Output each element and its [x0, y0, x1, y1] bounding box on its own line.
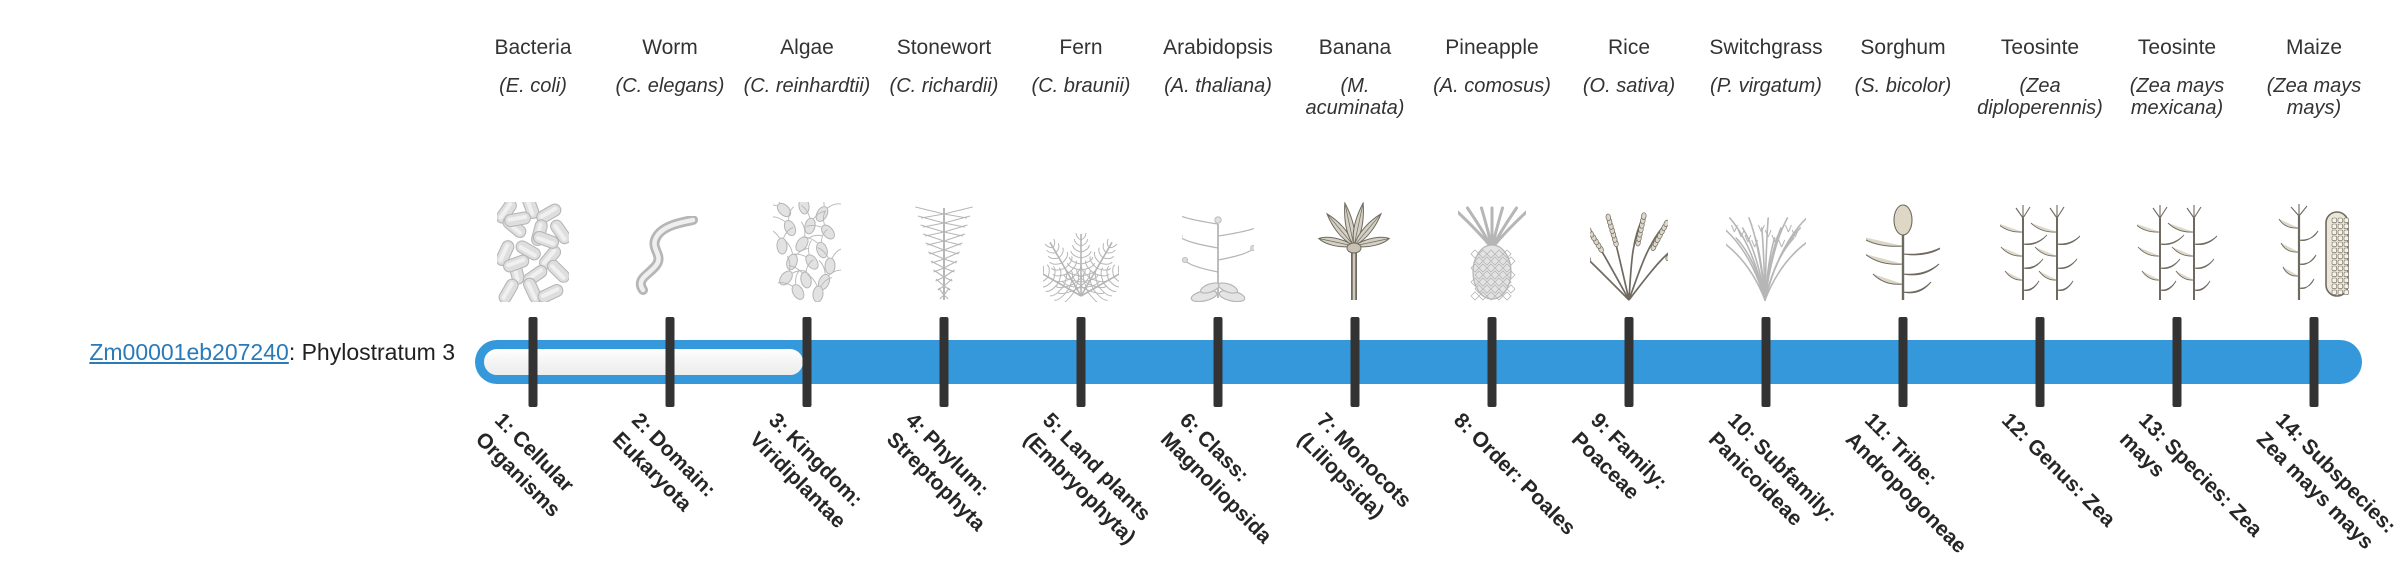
species-common-name: Fern: [1015, 36, 1147, 66]
phylostratum-timeline-figure: Zm00001eb207240: Phylostratum 3 Bacteria…: [0, 0, 2400, 580]
species-column: Fern (C. braunii): [1015, 0, 1147, 310]
rank-label: 12: Genus: Zea: [1995, 408, 2133, 546]
species-scientific-name: (S. bicolor): [1837, 75, 1969, 131]
phylostratum-tick: [1351, 317, 1360, 407]
species-column: Worm (C. elegans): [604, 0, 736, 310]
rank-label: 8: Order: Poales: [1447, 408, 1585, 546]
banana-tree-illustration: [1289, 198, 1421, 302]
pineapple-illustration: [1426, 198, 1558, 302]
species-column: Switchgrass (P. virgatum): [1700, 0, 1832, 310]
species-scientific-name: (Zea mays mays): [2248, 75, 2380, 131]
stonewort-illustration: [878, 198, 1010, 302]
species-common-name: Bacteria: [467, 36, 599, 66]
rank-label: 14: Subspecies: Zea mays mays: [2250, 408, 2400, 565]
arabidopsis-plant-illustration: [1152, 198, 1284, 302]
gene-label-separator: :: [289, 339, 302, 365]
phylostratum-tick: [803, 317, 812, 407]
species-common-name: Maize: [2248, 36, 2380, 66]
teosinte-diploperennis-illustration: [1974, 198, 2106, 302]
phylostratum-tick: [2036, 317, 2045, 407]
rank-label: 2: Domain: Eukaryota: [606, 408, 763, 565]
species-scientific-name: (A. comosus): [1426, 75, 1558, 131]
phylostratum-tick: [666, 317, 675, 407]
species-column: Maize (Zea mays mays): [2248, 0, 2380, 310]
species-column: Teosinte (Zea mays mexicana): [2111, 0, 2243, 310]
chlamydomonas-algae-illustration: [741, 198, 873, 302]
species-common-name: Switchgrass: [1700, 36, 1832, 66]
species-common-name: Pineapple: [1426, 36, 1558, 66]
rank-label: 13: Species: Zea mays: [2113, 408, 2270, 565]
rank-label: 4: Phylum: Streptophyta: [880, 408, 1037, 565]
species-scientific-name: (C. reinhardtii): [741, 75, 873, 131]
phylostratum-tick: [1214, 317, 1223, 407]
species-column: Bacteria (E. coli): [467, 0, 599, 310]
species-scientific-name: (C. richardii): [878, 75, 1010, 131]
phylostratum-tick: [2173, 317, 2182, 407]
maize-plant-and-cob-illustration: [2248, 198, 2380, 302]
species-scientific-name: (C. braunii): [1015, 75, 1147, 131]
species-common-name: Stonewort: [878, 36, 1010, 66]
sorghum-plant-illustration: [1837, 198, 1969, 302]
species-scientific-name: (Zea mays mexicana): [2111, 75, 2243, 131]
rice-plant-illustration: [1563, 198, 1695, 302]
rank-label: 7: Monocots (Liliopsida): [1291, 408, 1448, 565]
species-common-name: Sorghum: [1837, 36, 1969, 66]
rank-label: 9: Family: Poaceae: [1565, 408, 1722, 565]
gene-id-link[interactable]: Zm00001eb207240: [89, 339, 289, 365]
species-column: Stonewort (C. richardii): [878, 0, 1010, 310]
teosinte-mexicana-illustration: [2111, 198, 2243, 302]
fern-frond-illustration: [1015, 198, 1147, 302]
species-column: Pineapple (A. comosus): [1426, 0, 1558, 310]
species-column: Teosinte (Zea diploperennis): [1974, 0, 2106, 310]
bacteria-rods-illustration: [467, 198, 599, 302]
species-common-name: Algae: [741, 36, 873, 66]
rank-label: 6: Class: Magnoliopsida: [1154, 408, 1311, 565]
rank-labels: 1: Cellular Organisms2: Domain: Eukaryot…: [455, 408, 2380, 580]
species-scientific-name: (E. coli): [467, 75, 599, 131]
rank-label: 3: Kingdom: Viridiplantae: [743, 408, 900, 565]
phylostratum-bar: [455, 312, 2380, 412]
phylostratum-tick: [1762, 317, 1771, 407]
species-common-name: Arabidopsis: [1152, 36, 1284, 66]
rank-label: 1: Cellular Organisms: [469, 408, 626, 565]
species-common-name: Worm: [604, 36, 736, 66]
species-column: Arabidopsis (A. thaliana): [1152, 0, 1284, 310]
species-column: Rice (O. sativa): [1563, 0, 1695, 310]
species-scientific-name: (P. virgatum): [1700, 75, 1832, 131]
species-common-name: Teosinte: [1974, 36, 2106, 66]
phylostratum-tick: [1077, 317, 1086, 407]
species-column: Sorghum (S. bicolor): [1837, 0, 1969, 310]
species-column: Banana (M. acuminata): [1289, 0, 1421, 310]
phylostratum-tick: [2310, 317, 2319, 407]
phylostratum-tick: [1899, 317, 1908, 407]
species-scientific-name: (O. sativa): [1563, 75, 1695, 131]
rank-label: 5: Land plants (Embryophyta): [1017, 408, 1174, 565]
rank-label: 10: Subfamily: Panicoideae: [1702, 408, 1859, 565]
species-columns: Bacteria (E. coli): [455, 0, 2380, 310]
switchgrass-illustration: [1700, 198, 1832, 302]
phylostratum-tick: [1488, 317, 1497, 407]
species-common-name: Teosinte: [2111, 36, 2243, 66]
species-common-name: Banana: [1289, 36, 1421, 66]
species-common-name: Rice: [1563, 36, 1695, 66]
species-column: Algae (C. reinhardtii): [741, 0, 873, 310]
gene-phylostratum-label: Zm00001eb207240: Phylostratum 3: [0, 340, 455, 365]
phylostratum-tick: [1625, 317, 1634, 407]
phylostratum-tick: [529, 317, 538, 407]
nematode-worm-illustration: [604, 198, 736, 302]
species-scientific-name: (M. acuminata): [1289, 75, 1421, 131]
species-scientific-name: (Zea diploperennis): [1974, 75, 2106, 131]
species-scientific-name: (A. thaliana): [1152, 75, 1284, 131]
rank-label: 11: Tribe: Andropogoneae: [1839, 408, 1996, 565]
species-scientific-name: (C. elegans): [604, 75, 736, 131]
phylostratum-tick: [940, 317, 949, 407]
phylostratum-value-text: Phylostratum 3: [302, 339, 455, 365]
